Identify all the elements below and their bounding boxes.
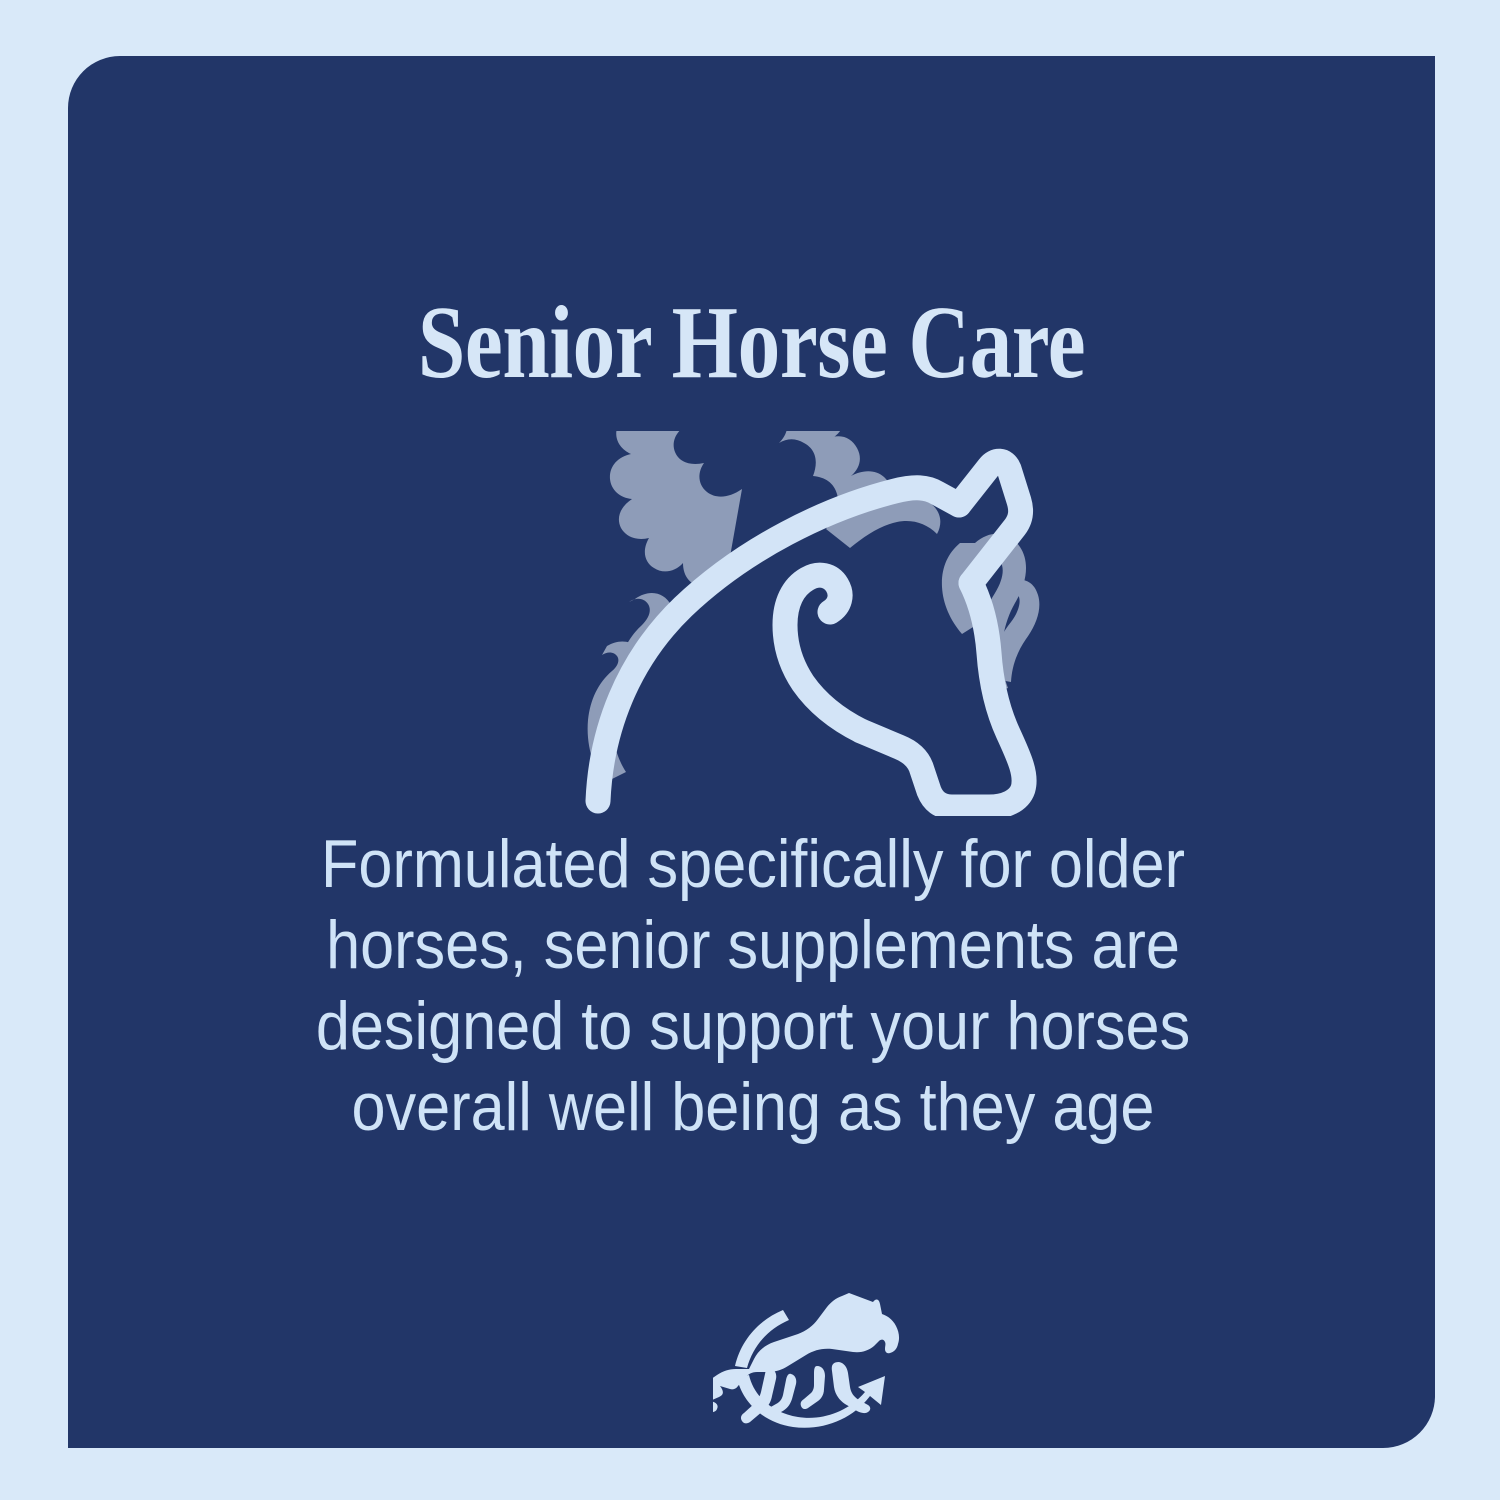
description-line: horses, senior supplements are: [290, 905, 1217, 986]
promo-graphic: Senior Horse Care: [0, 0, 1500, 1500]
page-title: Senior Horse Care: [191, 288, 1312, 398]
description-line: designed to support your horses: [290, 986, 1217, 1067]
info-card: Senior Horse Care: [68, 56, 1435, 1448]
horse-head-icon: [565, 431, 1065, 816]
description-text: Formulated specifically for older horses…: [290, 824, 1217, 1148]
description-line: overall well being as they age: [290, 1067, 1217, 1148]
running-horse-logo-svg: [713, 1288, 923, 1433]
horse-head-svg: [565, 431, 1065, 816]
brand-logo: [713, 1288, 923, 1433]
description-line: Formulated specifically for older: [290, 824, 1217, 905]
